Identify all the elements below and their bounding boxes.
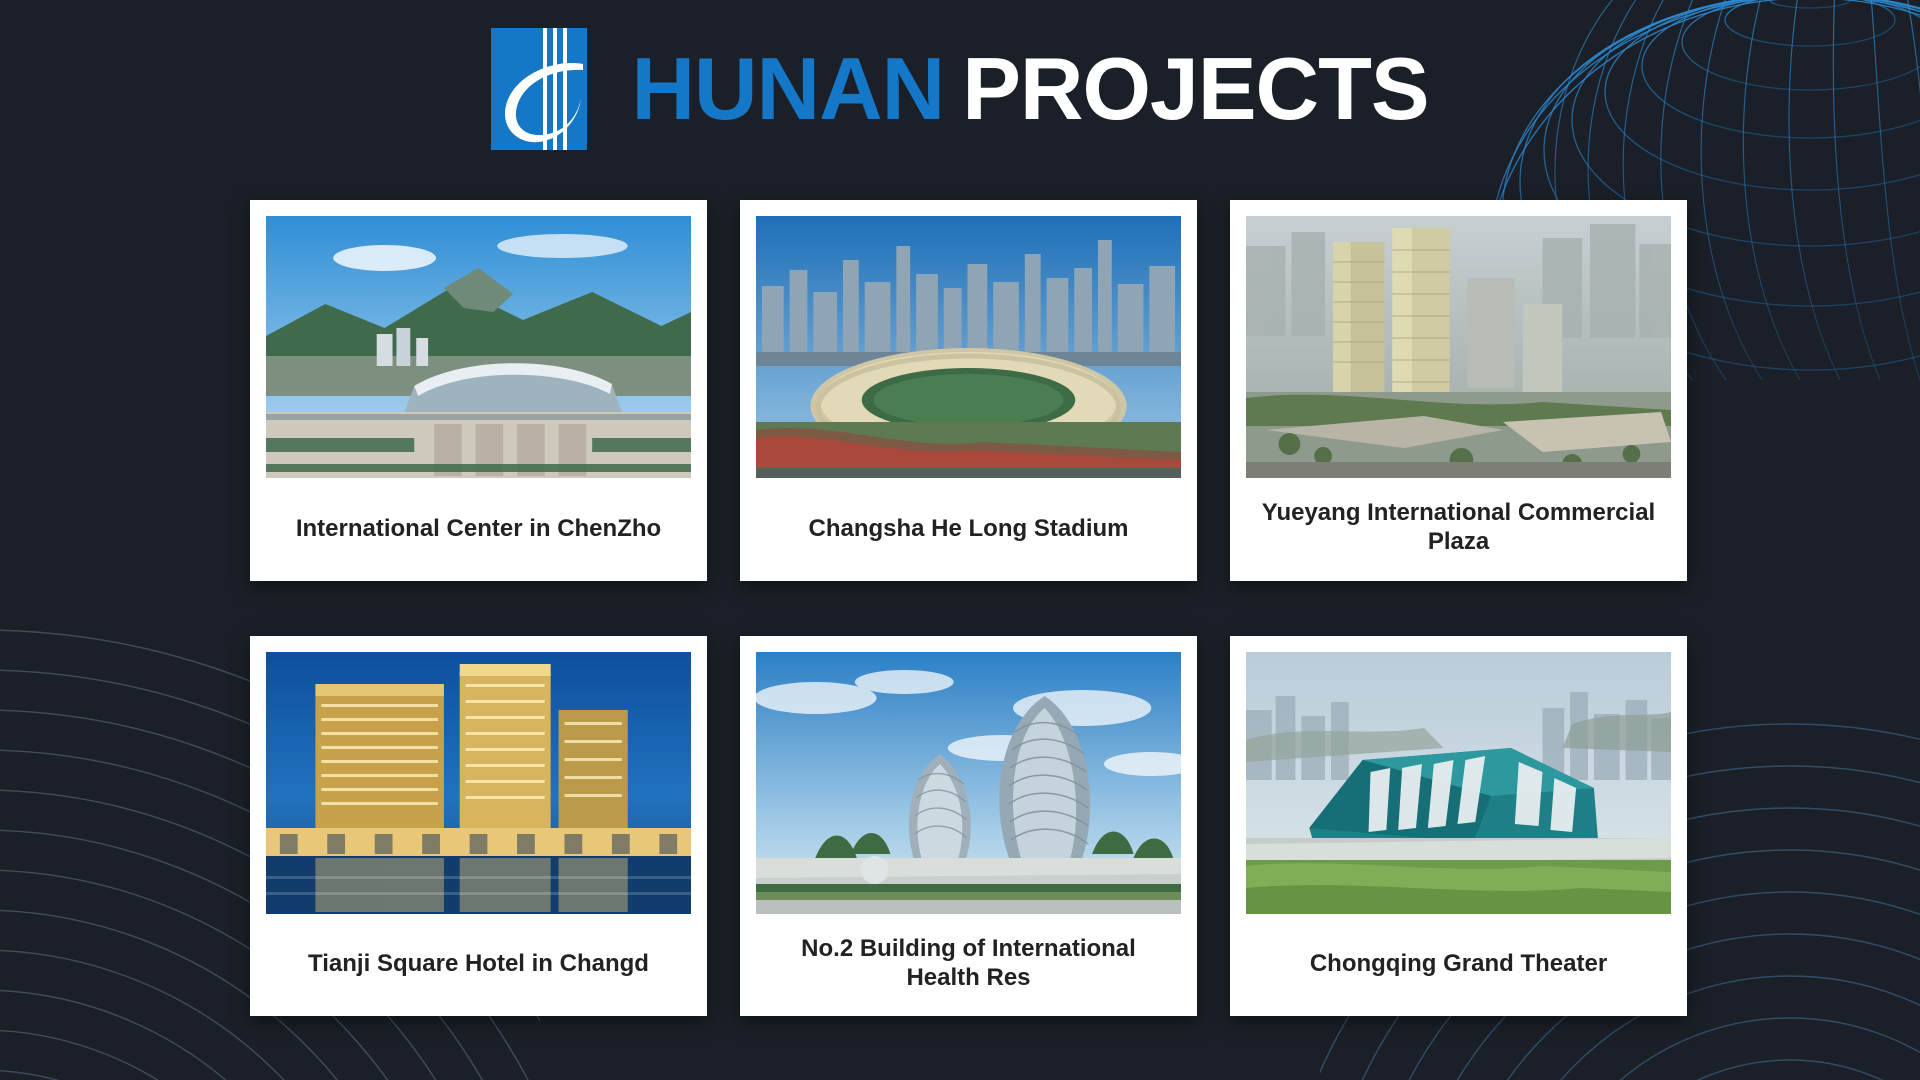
project-card[interactable]: Yueyang International Commercial Plaza	[1230, 200, 1687, 581]
project-card[interactable]: Changsha He Long Stadium	[740, 200, 1197, 581]
page-header: HUNANPROJECTS	[0, 28, 1920, 150]
brand-primary: HUNAN	[631, 39, 944, 138]
page-title: HUNANPROJECTS	[631, 45, 1428, 133]
international-health-resort-building-photo	[756, 652, 1181, 914]
yueyang-commercial-plaza-render	[1246, 216, 1671, 478]
chenzhou-international-center-aerial-photo	[266, 216, 691, 478]
changsha-he-long-stadium-aerial-photo	[756, 216, 1181, 478]
project-title: No.2 Building of International Health Re…	[756, 914, 1181, 1007]
hunan-swoosh-logo-icon	[491, 28, 609, 150]
project-title: Changsha He Long Stadium	[756, 478, 1181, 571]
project-title: Tianji Square Hotel in Changd	[266, 914, 691, 1007]
project-card[interactable]: Tianji Square Hotel in Changd	[250, 636, 707, 1017]
tianji-square-hotel-night-photo	[266, 652, 691, 914]
project-title: International Center in ChenZho	[266, 478, 691, 571]
project-title: Chongqing Grand Theater	[1246, 914, 1671, 1007]
chongqing-grand-theater-photo	[1246, 652, 1671, 914]
brand-secondary: PROJECTS	[962, 39, 1428, 138]
project-title: Yueyang International Commercial Plaza	[1246, 478, 1671, 571]
project-card[interactable]: No.2 Building of International Health Re…	[740, 636, 1197, 1017]
project-card[interactable]: International Center in ChenZho	[250, 200, 707, 581]
projects-grid: International Center in ChenZho	[250, 200, 1680, 1016]
project-card[interactable]: Chongqing Grand Theater	[1230, 636, 1687, 1017]
